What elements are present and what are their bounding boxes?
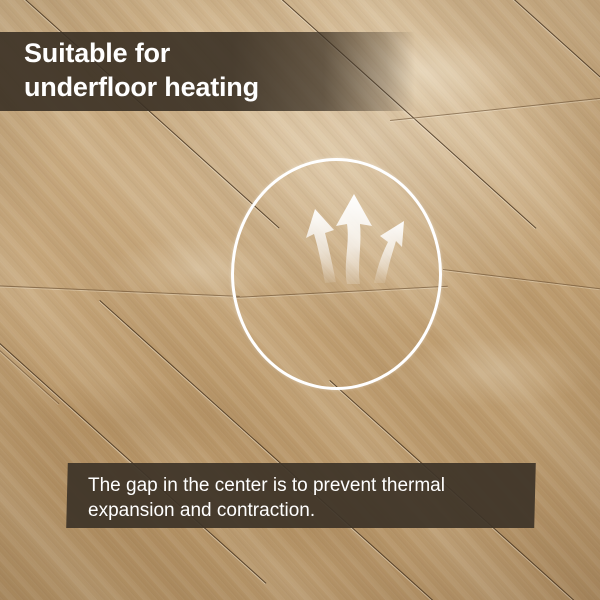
heat-arrow-group xyxy=(298,190,408,285)
flooring-feature-image: Suitable for underfloor heating The gap … xyxy=(0,0,600,600)
heat-arrow-right xyxy=(374,221,404,283)
heat-arrow-center xyxy=(336,194,372,284)
heat-arrow-left xyxy=(306,209,336,283)
page-title: Suitable for underfloor heating xyxy=(24,36,384,104)
caption-text: The gap in the center is to prevent ther… xyxy=(88,473,518,523)
